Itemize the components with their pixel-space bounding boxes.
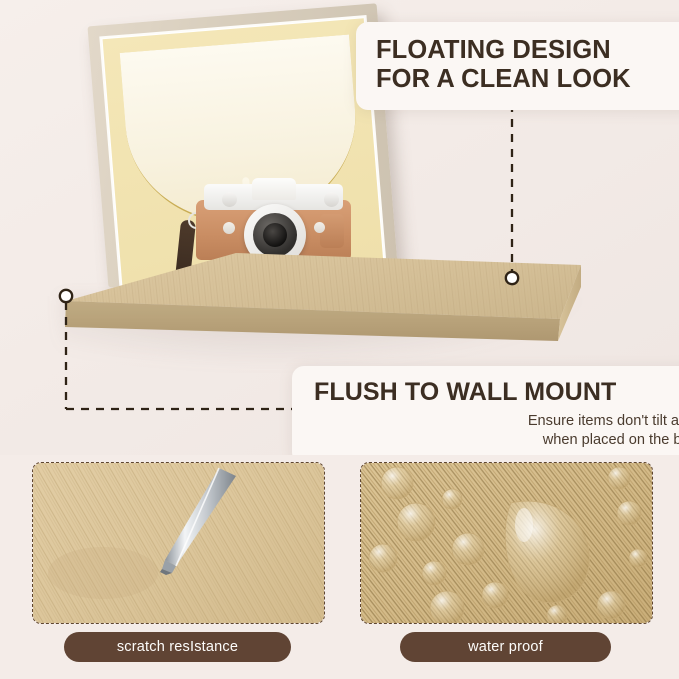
- camera-dial-right: [324, 192, 339, 207]
- feature-panel-scratch-resistance: [32, 462, 325, 624]
- callout-flush-to-wall-mount: FLUSH TO WALL MOUNT Ensure items don't t…: [292, 366, 679, 455]
- camera-viewfinder-hump: [252, 178, 296, 200]
- feature-panel-water-proof: [360, 462, 653, 624]
- callout-subtitle-line2: when placed on the boards: [314, 431, 679, 450]
- callout-subtitle-line1: Ensure items don't tilt and fall: [314, 412, 679, 431]
- callout-floating-design: FLOATING DESIGN FOR A CLEAN LOOK: [356, 22, 679, 110]
- callout-title-line1: FLOATING DESIGN: [376, 36, 679, 65]
- feature-label-scratch-resistance: scratch resIstance: [64, 632, 291, 662]
- screwdriver-icon: [33, 463, 324, 623]
- floating-shelf: [60, 243, 582, 343]
- camera-dial-left: [222, 192, 237, 207]
- product-feature-image: FLOATING DESIGN FOR A CLEAN LOOK FLUSH T…: [0, 0, 679, 679]
- feature-label-text: water proof: [468, 639, 543, 655]
- feature-label-text: scratch resIstance: [117, 639, 238, 655]
- camera-button-left: [223, 222, 235, 234]
- camera-button-right: [314, 222, 325, 233]
- callout-title-line1: FLUSH TO WALL MOUNT: [314, 378, 679, 406]
- feature-label-water-proof: water proof: [400, 632, 611, 662]
- callout-title-line2: FOR A CLEAN LOOK: [376, 65, 679, 94]
- hero-scene: FLOATING DESIGN FOR A CLEAN LOOK FLUSH T…: [0, 0, 679, 455]
